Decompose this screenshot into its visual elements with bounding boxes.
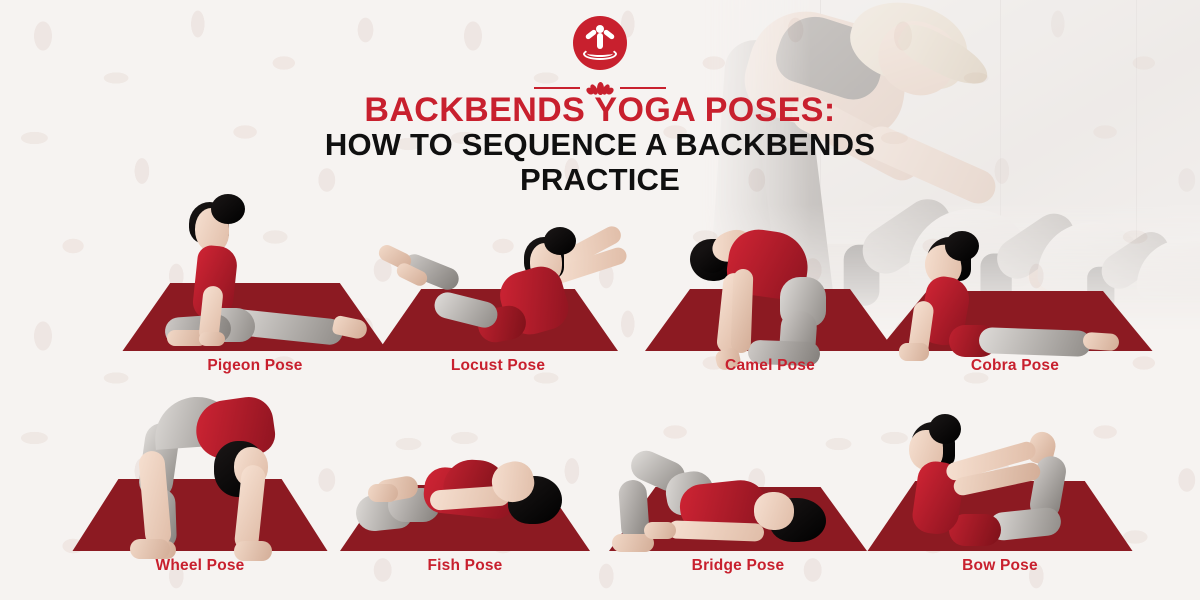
pose-label-pigeon: Pigeon Pose — [105, 357, 405, 375]
pose-figure-wheel — [118, 393, 318, 563]
figure-thigh — [432, 290, 500, 331]
brand-logo — [0, 16, 1200, 96]
pose-figure-camel — [684, 225, 884, 355]
pose-card-cobra: Cobra Pose — [865, 215, 1165, 375]
logo-figure-body — [597, 33, 603, 49]
pose-label-bow: Bow Pose — [855, 557, 1145, 575]
pose-figure-bridge — [622, 440, 852, 560]
logo-figure-legs — [587, 50, 613, 57]
pose-card-bridge: Bridge Pose — [598, 420, 878, 575]
figure-hair-bun — [945, 231, 979, 261]
pose-figure-fish — [352, 430, 582, 540]
pose-label-locust: Locust Pose — [368, 357, 628, 375]
title-line-2: HOW TO SEQUENCE A BACKBENDS — [0, 128, 1200, 163]
figure-arm — [668, 520, 765, 541]
logo-figure-arm — [603, 29, 616, 40]
pose-figure-pigeon — [157, 190, 377, 352]
pose-label-bridge: Bridge Pose — [598, 557, 878, 575]
pose-figure-cobra — [897, 229, 1137, 359]
meditating-figure-badge-icon — [573, 16, 627, 70]
pose-card-pigeon: Pigeon Pose — [105, 190, 405, 375]
pose-card-bow: Bow Pose — [855, 400, 1145, 575]
figure-arm — [731, 269, 754, 354]
pose-figure-locust — [426, 223, 636, 353]
pose-card-locust: Locust Pose — [368, 215, 628, 375]
logo-figure-arm — [585, 29, 598, 40]
divider-rule-left — [534, 87, 580, 89]
figure-hair-bun — [211, 194, 245, 224]
infographic-poster: BACKBENDS YOGA POSES: HOW TO SEQUENCE A … — [0, 0, 1200, 600]
figure-hand — [199, 332, 225, 346]
figure-hand — [644, 522, 676, 539]
pose-label-cobra: Cobra Pose — [865, 357, 1165, 375]
pose-card-fish: Fish Pose — [330, 430, 600, 575]
figure-hand — [368, 484, 398, 502]
pose-label-fish: Fish Pose — [330, 557, 600, 575]
figure-foot — [1082, 332, 1119, 351]
title-line-1: BACKBENDS YOGA POSES: — [0, 92, 1200, 128]
pose-label-wheel: Wheel Pose — [60, 557, 340, 575]
divider-rule-right — [620, 87, 666, 89]
pose-card-wheel: Wheel Pose — [60, 385, 340, 575]
figure-hand — [130, 539, 170, 559]
figure-hair-bun — [929, 414, 961, 444]
pose-figure-bow — [893, 410, 1113, 560]
figure-hair-bun — [544, 227, 576, 255]
figure-legs — [979, 327, 1092, 357]
title-block: BACKBENDS YOGA POSES: HOW TO SEQUENCE A … — [0, 92, 1200, 197]
